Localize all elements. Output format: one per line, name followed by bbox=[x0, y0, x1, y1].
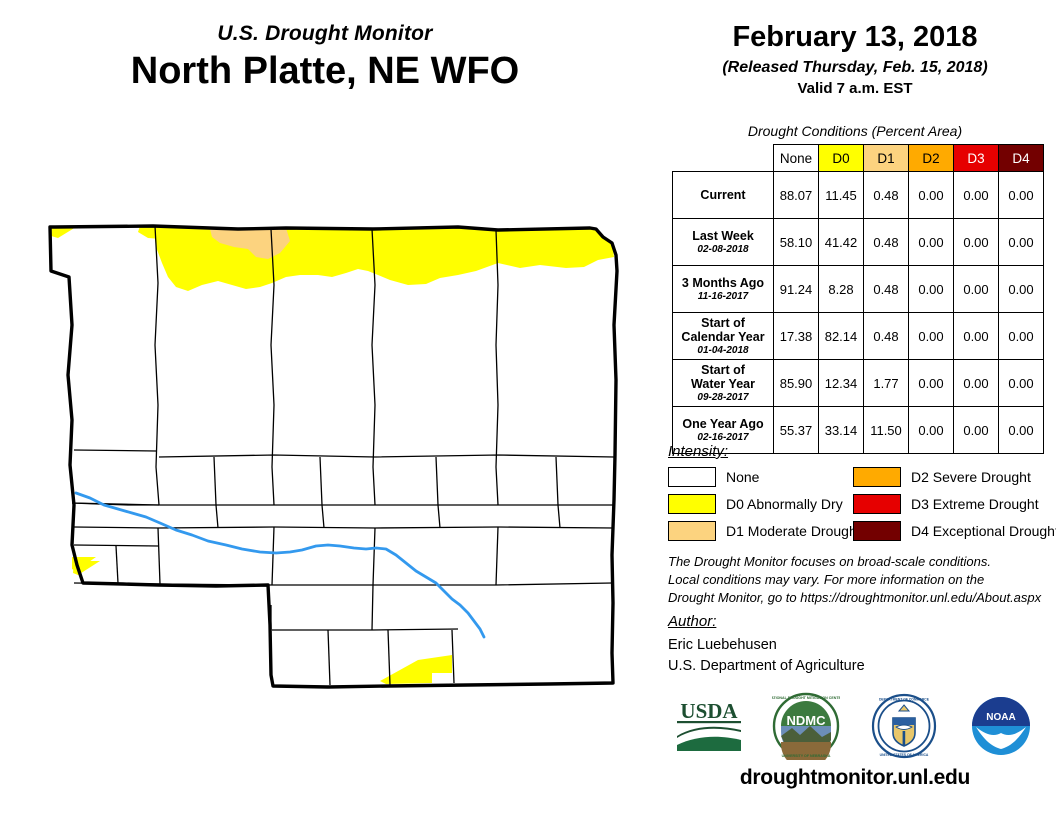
row-label-date: 01-04-2018 bbox=[676, 345, 770, 356]
legend-item-d2: D2 Severe Drought bbox=[853, 467, 1053, 487]
release-date: (Released Thursday, Feb. 15, 2018) bbox=[660, 59, 1050, 77]
drought-map bbox=[28, 205, 648, 715]
table-header-d2: D2 bbox=[909, 145, 954, 172]
cell-d1-0: 0.48 bbox=[864, 172, 909, 219]
legend-label-d3: D3 Extreme Drought bbox=[911, 496, 1039, 512]
cell-d2-1: 0.00 bbox=[909, 219, 954, 266]
cell-d1-1: 0.48 bbox=[864, 219, 909, 266]
table-header-none: None bbox=[774, 145, 819, 172]
legend-item-d4: D4 Exceptional Drought bbox=[853, 521, 1053, 541]
table-row: Start ofWater Year09-28-201785.9012.341.… bbox=[673, 360, 1044, 407]
cell-d4-4: 0.00 bbox=[999, 360, 1044, 407]
cell-d3-2: 0.00 bbox=[954, 266, 999, 313]
usda-logo: USDA bbox=[671, 692, 747, 760]
report-header: February 13, 2018 (Released Thursday, Fe… bbox=[660, 22, 1050, 98]
cell-d3-1: 0.00 bbox=[954, 219, 999, 266]
table-row: Start ofCalendar Year01-04-201817.3882.1… bbox=[673, 313, 1044, 360]
legend-item-d3: D3 Extreme Drought bbox=[853, 494, 1053, 514]
svg-text:DEPARTMENT OF COMMERCE: DEPARTMENT OF COMMERCE bbox=[879, 698, 930, 702]
cell-d3-3: 0.00 bbox=[954, 313, 999, 360]
row-label-1: Last Week02-08-2018 bbox=[673, 219, 774, 266]
ndmc-logo-icon: NDMC NATIONAL DROUGHT MITIGATION CENTER … bbox=[772, 692, 840, 760]
cell-none-2: 91.24 bbox=[774, 266, 819, 313]
partner-logos: USDA NDMC NATIONAL DROUGHT MITIGATION CE… bbox=[660, 690, 1050, 762]
cell-none-0: 88.07 bbox=[774, 172, 819, 219]
region-title: North Platte, NE WFO bbox=[0, 50, 650, 94]
row-label-main: One Year Ago bbox=[676, 417, 770, 431]
cell-d2-0: 0.00 bbox=[909, 172, 954, 219]
disclaimer-line-1: The Drought Monitor focuses on broad-sca… bbox=[668, 553, 1048, 571]
legend-swatch-none bbox=[668, 467, 716, 487]
drought-conditions-table: NoneD0D1D2D3D4Current88.0711.450.480.000… bbox=[672, 144, 1044, 454]
legend-item-d0: D0 Abnormally Dry bbox=[668, 494, 853, 514]
legend-label-d2: D2 Severe Drought bbox=[911, 469, 1031, 485]
cell-none-4: 85.90 bbox=[774, 360, 819, 407]
legend-label-none: None bbox=[726, 469, 759, 485]
legend-item-none: None bbox=[668, 467, 853, 487]
author-heading: Author: bbox=[668, 613, 1048, 630]
legend-grid: NoneD2 Severe DroughtD0 Abnormally DryD3… bbox=[668, 467, 1053, 541]
disclaimer-line-3: Drought Monitor, go to https://droughtmo… bbox=[668, 589, 1048, 607]
table-row: 3 Months Ago11-16-201791.248.280.480.000… bbox=[673, 266, 1044, 313]
table-corner-cell bbox=[673, 145, 774, 172]
row-label-date: 02-08-2018 bbox=[676, 244, 770, 255]
legend-label-d4: D4 Exceptional Drought bbox=[911, 523, 1056, 539]
cell-none-3: 17.38 bbox=[774, 313, 819, 360]
legend-item-d1: D1 Moderate Drought bbox=[668, 521, 853, 541]
legend-swatch-d2 bbox=[853, 467, 901, 487]
ndmc-logo: NDMC NATIONAL DROUGHT MITIGATION CENTER … bbox=[768, 692, 844, 760]
noaa-logo-icon: NOAA bbox=[968, 693, 1034, 759]
table-header-d1: D1 bbox=[864, 145, 909, 172]
cell-d1-2: 0.48 bbox=[864, 266, 909, 313]
legend-title: Intensity: bbox=[668, 443, 1053, 460]
cell-d3-4: 0.00 bbox=[954, 360, 999, 407]
disclaimer-text: The Drought Monitor focuses on broad-sca… bbox=[668, 553, 1048, 607]
svg-text:NOAA: NOAA bbox=[987, 712, 1016, 723]
row-label-4: Start ofWater Year09-28-2017 bbox=[673, 360, 774, 407]
usda-logo-icon: USDA bbox=[671, 696, 747, 756]
cell-d1-4: 1.77 bbox=[864, 360, 909, 407]
row-label-date: 11-16-2017 bbox=[676, 291, 770, 302]
drought-map-svg bbox=[28, 205, 648, 715]
cell-d0-3: 82.14 bbox=[819, 313, 864, 360]
row-label-2: 3 Months Ago11-16-2017 bbox=[673, 266, 774, 313]
row-label-date: 02-16-2017 bbox=[676, 432, 770, 443]
table-header-row: NoneD0D1D2D3D4 bbox=[673, 145, 1044, 172]
row-label-main: Start ofWater Year bbox=[676, 363, 770, 391]
cell-d2-4: 0.00 bbox=[909, 360, 954, 407]
row-label-main: Last Week bbox=[676, 229, 770, 243]
author-name: Eric Luebehusen bbox=[668, 635, 1048, 656]
legend-swatch-d0 bbox=[668, 494, 716, 514]
author-organization: U.S. Department of Agriculture bbox=[668, 656, 1048, 677]
legend-swatch-d1 bbox=[668, 521, 716, 541]
table-row: Current88.0711.450.480.000.000.00 bbox=[673, 172, 1044, 219]
svg-text:NDMC: NDMC bbox=[787, 713, 827, 728]
svg-text:UNITED STATES OF AMERICA: UNITED STATES OF AMERICA bbox=[879, 753, 928, 757]
program-title: U.S. Drought Monitor bbox=[0, 22, 650, 45]
table-caption: Drought Conditions (Percent Area) bbox=[660, 123, 1050, 139]
noaa-logo: NOAA bbox=[963, 692, 1039, 760]
row-label-date: 09-28-2017 bbox=[676, 392, 770, 403]
row-label-main: Current bbox=[676, 188, 770, 202]
legend-label-d1: D1 Moderate Drought bbox=[726, 523, 861, 539]
cell-d2-3: 0.00 bbox=[909, 313, 954, 360]
row-label-3: Start ofCalendar Year01-04-2018 bbox=[673, 313, 774, 360]
cell-d4-0: 0.00 bbox=[999, 172, 1044, 219]
legend-label-d0: D0 Abnormally Dry bbox=[726, 496, 843, 512]
row-label-0: Current bbox=[673, 172, 774, 219]
svg-text:UNIVERSITY OF NEBRASKA: UNIVERSITY OF NEBRASKA bbox=[782, 754, 831, 758]
table-header-d0: D0 bbox=[819, 145, 864, 172]
row-label-main: Start ofCalendar Year bbox=[676, 316, 770, 344]
usdc-seal-logo: DEPARTMENT OF COMMERCE UNITED STATES OF … bbox=[866, 692, 942, 760]
cell-d0-4: 12.34 bbox=[819, 360, 864, 407]
cell-d3-0: 0.00 bbox=[954, 172, 999, 219]
cell-d4-3: 0.00 bbox=[999, 313, 1044, 360]
legend-swatch-d4 bbox=[853, 521, 901, 541]
svg-text:NATIONAL DROUGHT MITIGATION CE: NATIONAL DROUGHT MITIGATION CENTER bbox=[772, 696, 840, 700]
cell-none-1: 58.10 bbox=[774, 219, 819, 266]
cell-d1-3: 0.48 bbox=[864, 313, 909, 360]
table-header-d3: D3 bbox=[954, 145, 999, 172]
legend-swatch-d3 bbox=[853, 494, 901, 514]
disclaimer-line-2: Local conditions may vary. For more info… bbox=[668, 571, 1048, 589]
website-url: droughtmonitor.unl.edu bbox=[660, 766, 1050, 790]
intensity-legend: Intensity: NoneD2 Severe DroughtD0 Abnor… bbox=[668, 443, 1053, 541]
cell-d0-2: 8.28 bbox=[819, 266, 864, 313]
cell-d0-1: 41.42 bbox=[819, 219, 864, 266]
cell-d2-2: 0.00 bbox=[909, 266, 954, 313]
cell-d0-0: 11.45 bbox=[819, 172, 864, 219]
cell-d4-1: 0.00 bbox=[999, 219, 1044, 266]
svg-text:USDA: USDA bbox=[680, 699, 738, 723]
row-label-main: 3 Months Ago bbox=[676, 276, 770, 290]
valid-time: Valid 7 a.m. EST bbox=[660, 81, 1050, 98]
table-header-d4: D4 bbox=[999, 145, 1044, 172]
usdc-seal-logo-icon: DEPARTMENT OF COMMERCE UNITED STATES OF … bbox=[871, 693, 937, 759]
report-date: February 13, 2018 bbox=[660, 22, 1050, 54]
author-block: Author: Eric Luebehusen U.S. Department … bbox=[668, 613, 1048, 677]
page-title: U.S. Drought Monitor North Platte, NE WF… bbox=[0, 22, 650, 94]
table-row: Last Week02-08-201858.1041.420.480.000.0… bbox=[673, 219, 1044, 266]
cell-d4-2: 0.00 bbox=[999, 266, 1044, 313]
